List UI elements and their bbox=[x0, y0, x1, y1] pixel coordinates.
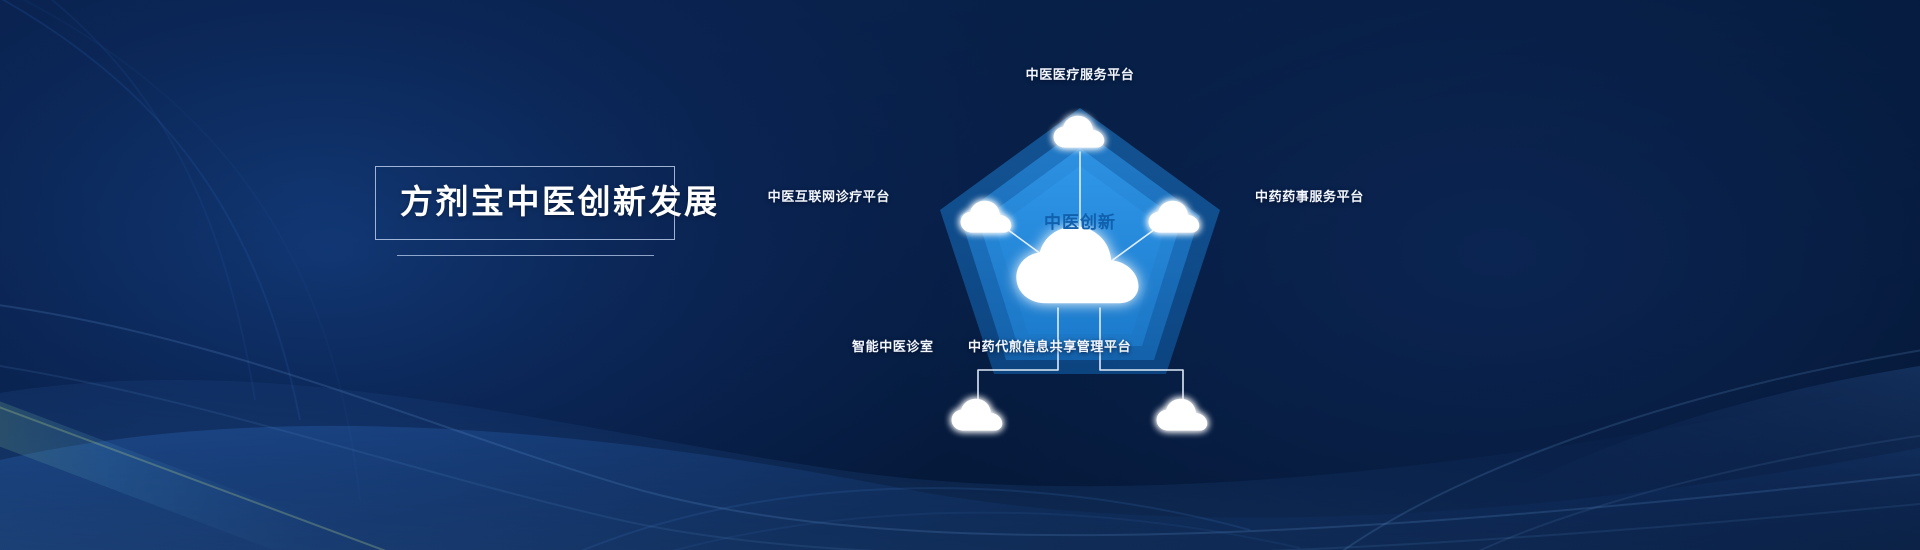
title-underline bbox=[397, 255, 654, 256]
node-label-bottom-right: 中药代煎信息共享管理平台 bbox=[968, 336, 1131, 355]
hero-banner: 方剂宝中医创新发展 bbox=[0, 0, 1920, 550]
title-box: 方剂宝中医创新发展 bbox=[375, 166, 675, 240]
node-label-bottom-left: 智能中医诊室 bbox=[852, 336, 934, 355]
page-title: 方剂宝中医创新发展 bbox=[400, 184, 650, 221]
node-label-left: 中医互联网诊疗平台 bbox=[768, 186, 890, 205]
pentagon-graphic bbox=[800, 40, 1360, 440]
pentagon-diagram: 中医医疗服务平台 中医互联网诊疗平台 中药药事服务平台 智能中医诊室 中药代煎信… bbox=[800, 40, 1360, 440]
node-label-right: 中药药事服务平台 bbox=[1255, 186, 1364, 205]
node-label-top: 中医医疗服务平台 bbox=[800, 64, 1360, 83]
title-block: 方剂宝中医创新发展 bbox=[375, 166, 675, 256]
